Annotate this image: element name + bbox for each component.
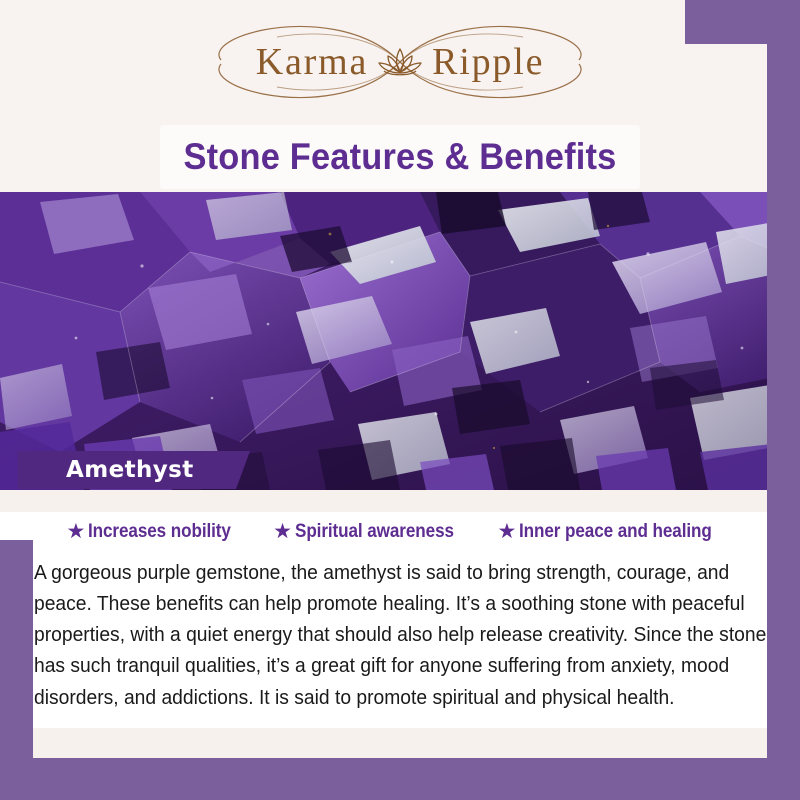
page-title: Stone Features & Benefits [28, 122, 772, 192]
stone-description-text: A gorgeous purple gemstone, the amethyst… [34, 557, 767, 713]
brand-word-right: Ripple [432, 43, 544, 81]
stone-name-label: Amethyst [66, 451, 194, 489]
star-icon: ★ [273, 521, 292, 542]
benefit-label: Spiritual awareness [295, 521, 454, 543]
title-band: Stone Features & Benefits [0, 122, 800, 192]
amethyst-hero-image [0, 192, 800, 490]
benefits-list: ★ Increases nobility ★ Spiritual awarene… [0, 512, 800, 543]
logo-lockup: Karma Ripple [185, 20, 615, 104]
brand-word-left: Karma [256, 43, 368, 81]
benefit-label: Increases nobility [88, 521, 231, 543]
frame-right-border [767, 0, 800, 800]
benefit-item-inner-peace-and-healing: ★ Inner peace and healing [497, 521, 733, 543]
stone-description-panel: ★ Increases nobility ★ Spiritual awarene… [0, 512, 800, 758]
frame-inner-cream-strip [33, 728, 767, 758]
brand-logo: Karma Ripple [185, 20, 615, 104]
amethyst-crystal-illustration [0, 192, 800, 490]
benefit-item-increases-nobility: ★ Increases nobility [67, 521, 248, 543]
frame-bottom-border [0, 758, 800, 800]
brand-header: Karma Ripple [0, 0, 800, 122]
benefit-label: Inner peace and healing [519, 521, 712, 543]
star-icon: ★ [497, 521, 516, 542]
hero-under-strip [0, 490, 800, 512]
star-icon: ★ [67, 521, 86, 542]
lotus-icon [376, 45, 424, 79]
stone-name-ribbon: Amethyst [18, 451, 250, 489]
benefit-item-spiritual-awareness: ★ Spiritual awareness [273, 521, 471, 543]
stone-features-infographic: Karma Ripple Stone Features & Benefits [0, 0, 800, 800]
